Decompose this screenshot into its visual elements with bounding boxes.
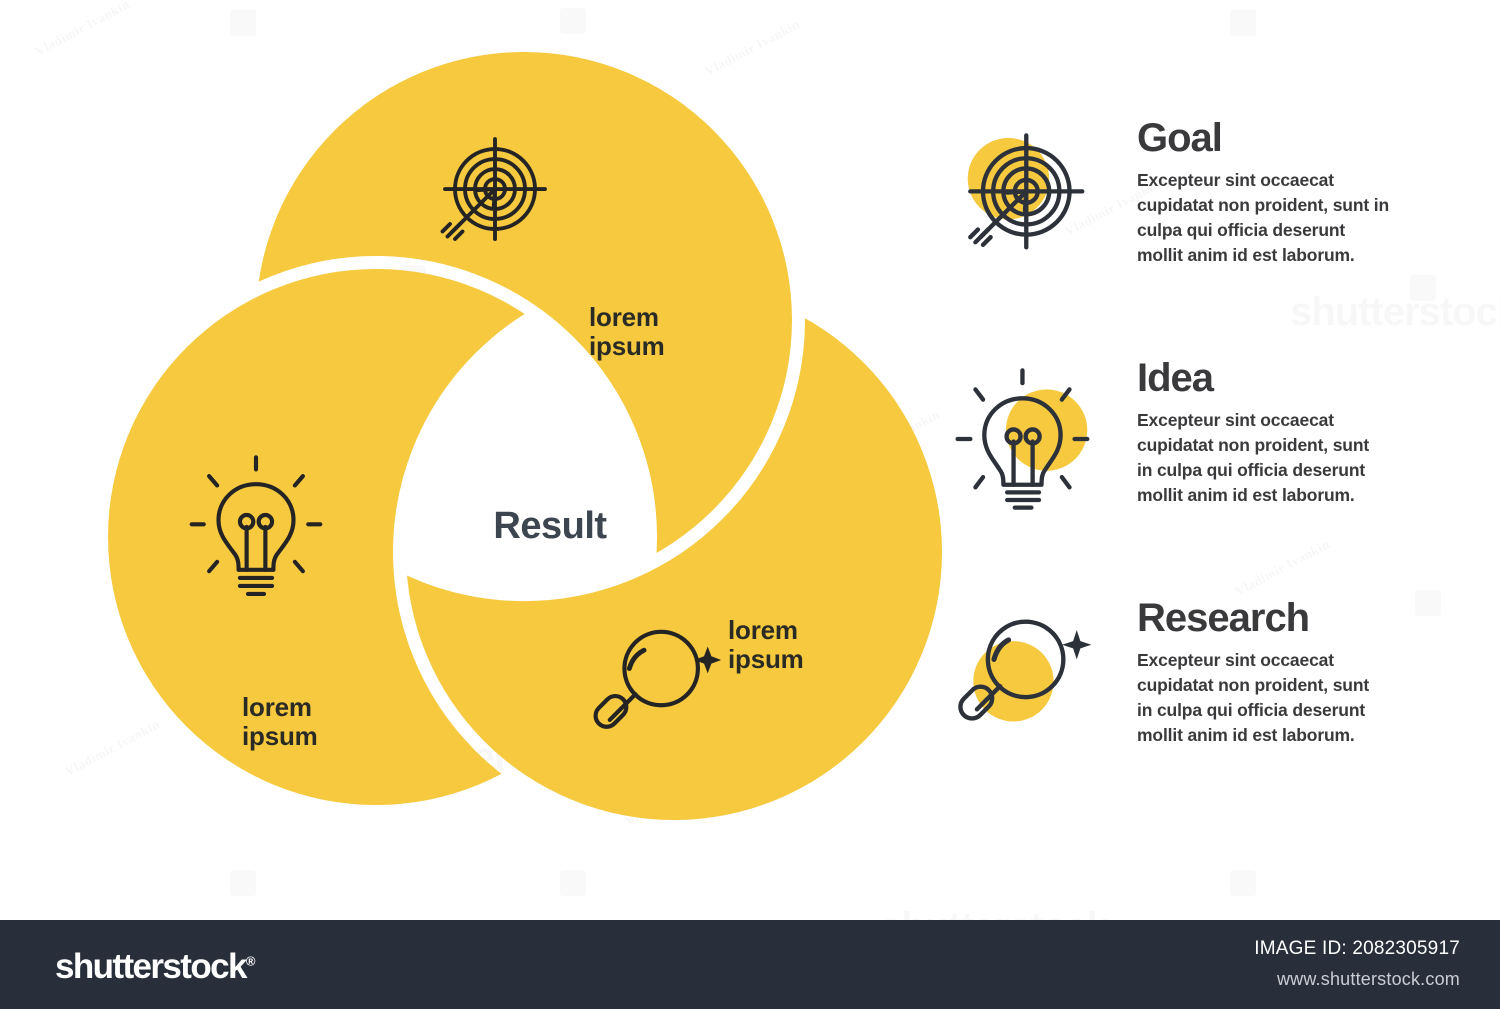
shutterstock-logo-text: shutterstock [55,947,246,986]
footer-bar: shutterstock® IMAGE ID: 2082305917 www.s… [0,920,1500,1009]
result-label: Result [430,505,670,548]
watermark-square [230,10,256,36]
watermark-square [1230,870,1256,896]
legend-title-research: Research [1137,598,1407,638]
watermark-square [560,8,586,34]
legend-text-goal: Goal Excepteur sint occaecat cupidatat n… [1137,118,1407,267]
watermark-brand: shutterstock [880,905,1108,920]
legend-item-goal[interactable]: Goal Excepteur sint occaecat cupidatat n… [955,118,1425,358]
registered-mark-icon: ® [246,953,256,968]
watermark-square [230,870,256,896]
target-icon [430,134,555,264]
watermark-square [1230,10,1256,36]
venn-diagram: lorem ipsum lorem ipsum lorem ipsum Resu… [92,52,952,852]
target-icon [955,124,1095,274]
legend-body-idea: Excepteur sint occaecat cupidatat non pr… [1137,408,1407,507]
legend-list: Goal Excepteur sint occaecat cupidatat n… [955,118,1425,838]
watermark-text: Vladimir Ivankin [32,0,132,60]
legend-text-idea: Idea Excepteur sint occaecat cupidatat n… [1137,358,1407,507]
legend-item-idea[interactable]: Idea Excepteur sint occaecat cupidatat n… [955,358,1425,598]
legend-body-research: Excepteur sint occaecat cupidatat non pr… [1137,648,1407,747]
lightbulb-icon [955,364,1095,514]
legend-text-research: Research Excepteur sint occaecat cupidat… [1137,598,1407,747]
legend-item-research[interactable]: Research Excepteur sint occaecat cupidat… [955,598,1425,838]
venn-label-goal: lorem ipsum [589,303,665,361]
site-url-label: www.shutterstock.com [1277,969,1460,990]
legend-title-goal: Goal [1137,118,1407,158]
magnifying-glass-icon [955,604,1095,754]
watermark-square [560,870,586,896]
infographic-canvas: Vladimir Ivankin Vladimir Ivankin Vladim… [0,0,1500,1009]
image-id-label: IMAGE ID: 2082305917 [1254,938,1460,960]
lightbulb-icon [188,452,324,607]
legend-title-idea: Idea [1137,358,1407,398]
magnifying-glass-icon [590,622,725,747]
shutterstock-logo[interactable]: shutterstock® [55,947,255,987]
legend-body-goal: Excepteur sint occaecat cupidatat non pr… [1137,168,1407,267]
venn-label-idea: lorem ipsum [242,693,318,751]
venn-label-research: lorem ipsum [728,616,804,674]
